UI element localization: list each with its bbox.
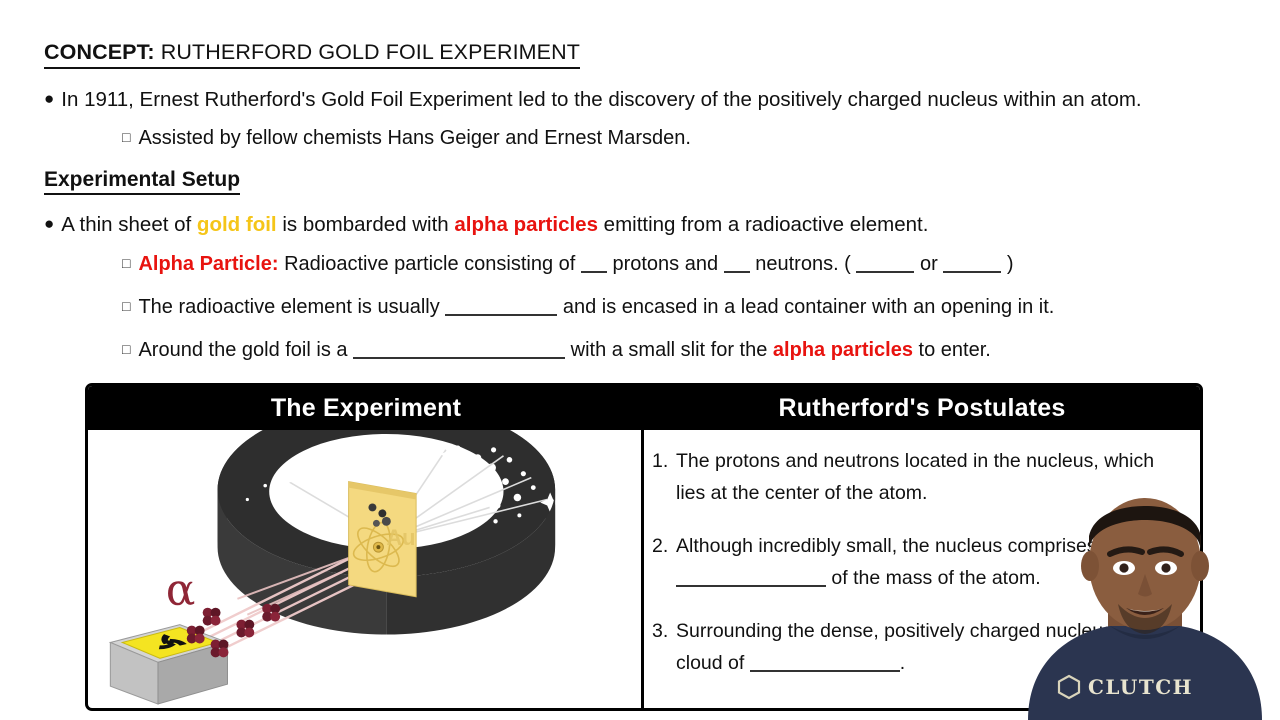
page-title: CONCEPT: RUTHERFORD GOLD FOIL EXPERIMENT [44, 40, 580, 69]
concept-label: CONCEPT: [44, 40, 155, 64]
table-header-experiment: The Experiment [88, 386, 644, 430]
alpha-particles-keyword: alpha particles [773, 339, 913, 361]
bullet-setup-sub-1: □Alpha Particle: Radioactive particle co… [122, 252, 1014, 276]
setup-line1-c: emitting from a radioactive element. [604, 213, 929, 236]
bullet-setup-sub-2: □The radioactive element is usually and … [122, 295, 1054, 319]
bullet-intro-1-text: In 1911, Ernest Rutherford's Gold Foil E… [61, 88, 1141, 111]
blank-electron-cloud[interactable] [750, 670, 900, 672]
bullet-intro-1-sub: □Assisted by fellow chemists Hans Geiger… [122, 126, 691, 150]
bullet-square-icon: □ [122, 298, 130, 314]
section-heading-setup: Experimental Setup [44, 168, 240, 195]
blank-radioactive-element[interactable] [445, 314, 557, 316]
setup-line3-b: and is encased in a lead container with … [563, 296, 1054, 318]
ear-left [1081, 551, 1099, 581]
postulate-3-after: . [900, 652, 905, 674]
bullet-square-icon: □ [122, 129, 130, 145]
gold-foil-sheet: Au [349, 482, 417, 597]
setup-line2-c: neutrons. ( [755, 253, 851, 275]
experiment-diagram-cell: Au [88, 430, 644, 708]
setup-line2-or: or [920, 253, 938, 275]
table-header-row: The Experiment Rutherford's Postulates [88, 386, 1200, 430]
blank-nucleus-mass-fraction[interactable] [676, 585, 826, 587]
blank-alpha-alt-2[interactable] [943, 271, 1001, 273]
setup-line3-a: The radioactive element is usually [138, 296, 439, 318]
setup-line4-b: with a small slit for the [571, 339, 768, 361]
bullet-dot-icon: ● [44, 214, 54, 233]
foil-element-label: Au [386, 525, 415, 550]
lead-source-box [110, 625, 227, 704]
rutherford-experiment-diagram: Au [88, 430, 641, 708]
alpha-symbol-label: α [166, 565, 196, 616]
bullet-setup-1: ●A thin sheet of gold foil is bombarded … [44, 213, 928, 238]
alpha-particles-keyword: alpha particles [454, 213, 598, 236]
bullet-intro-1: ●In 1911, Ernest Rutherford's Gold Foil … [44, 88, 1142, 113]
alpha-particle-term: Alpha Particle: [138, 253, 278, 275]
concept-title: RUTHERFORD GOLD FOIL EXPERIMENT [161, 40, 580, 64]
slide-root: CONCEPT: RUTHERFORD GOLD FOIL EXPERIMENT… [0, 0, 1280, 720]
setup-line4-c: to enter. [919, 339, 991, 361]
postulate-number: 3. [652, 616, 676, 679]
bullet-intro-1-sub-text: Assisted by fellow chemists Hans Geiger … [138, 127, 690, 149]
setup-line1-b: is bombarded with [282, 213, 448, 236]
blank-neutrons[interactable] [724, 271, 750, 273]
pupil-right [1161, 563, 1170, 572]
bullet-square-icon: □ [122, 341, 130, 357]
postulate-number: 1. [652, 446, 676, 509]
blank-alpha-alt-1[interactable] [856, 271, 914, 273]
bullet-dot-icon: ● [44, 89, 54, 108]
setup-line2-a: Radioactive particle consisting of [284, 253, 575, 275]
setup-line1-a: A thin sheet of [61, 213, 191, 236]
shirt [1028, 626, 1262, 720]
bullet-square-icon: □ [122, 255, 130, 271]
setup-line2-d: ) [1007, 253, 1014, 275]
pupil-left [1119, 563, 1128, 572]
blank-detector-screen[interactable] [353, 357, 565, 359]
clutch-wordmark: CLUTCH [1088, 675, 1193, 699]
table-header-postulates: Rutherford's Postulates [644, 386, 1200, 430]
ear-right [1191, 551, 1209, 581]
gold-foil-keyword: gold foil [197, 213, 277, 236]
postulate-number: 2. [652, 531, 676, 594]
setup-line4-a: Around the gold foil is a [138, 339, 347, 361]
blank-protons[interactable] [581, 271, 607, 273]
setup-line2-b: protons and [612, 253, 718, 275]
hexagon-icon [1057, 674, 1081, 700]
clutch-brand-logo: CLUTCH [1057, 674, 1193, 700]
bullet-setup-sub-3: □Around the gold foil is a with a small … [122, 338, 991, 362]
